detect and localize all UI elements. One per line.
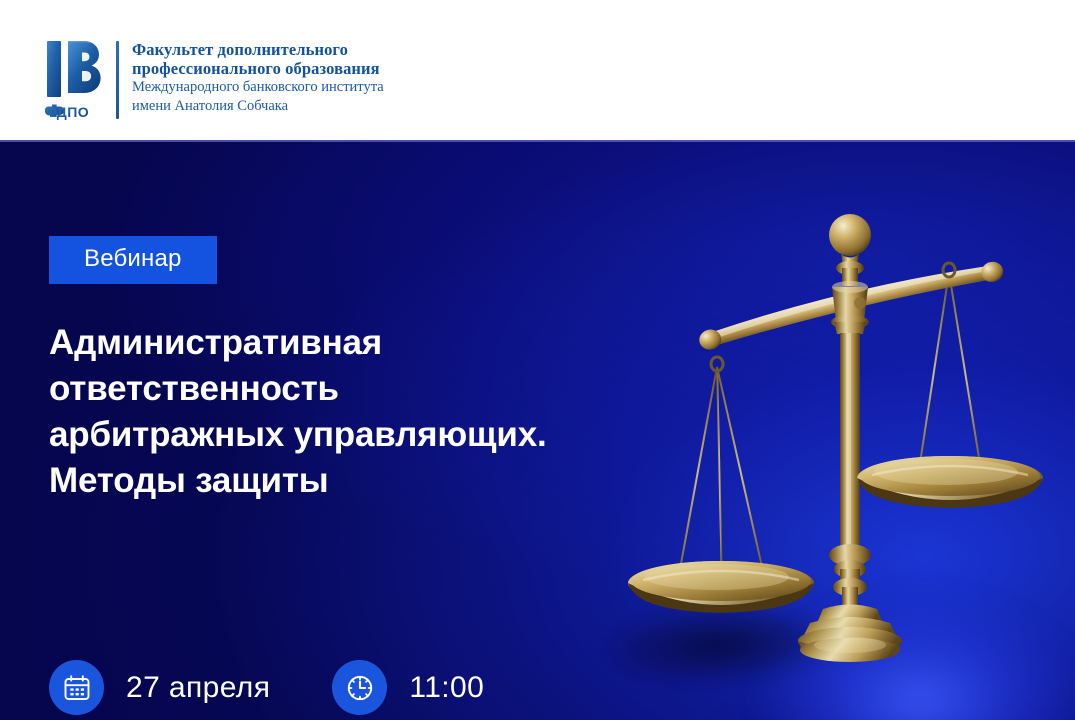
banner-content: Вебинар Административная ответственность…: [49, 236, 669, 504]
webinar-time: 11:00: [332, 660, 484, 715]
title-line-3: арбитражных управляющих.: [49, 412, 649, 458]
webinar-time-label: 11:00: [409, 671, 484, 705]
webinar-meta: 27 апреля: [49, 660, 484, 715]
header-branding[interactable]: ФДПО Факультет дополнительного профессио…: [45, 38, 384, 122]
org-line-2: профессионального образования: [132, 59, 384, 78]
webinar-poster: ФДПО Факультет дополнительного профессио…: [0, 0, 1075, 720]
org-line-4: имени Анатолия Собчака: [132, 97, 384, 116]
org-line-1: Факультет дополнительного: [132, 40, 384, 59]
title-line-4: Методы защиты: [49, 458, 649, 504]
site-header: ФДПО Факультет дополнительного профессио…: [0, 0, 1075, 140]
webinar-badge: Вебинар: [49, 236, 217, 284]
ib-fdpo-logo-icon[interactable]: ФДПО: [45, 38, 103, 122]
webinar-title: Административная ответственность арбитра…: [49, 320, 649, 504]
org-line-3: Международного банковского института: [132, 78, 384, 97]
webinar-date: 27 апреля: [49, 660, 270, 715]
scales-of-justice-illustration: [660, 195, 1060, 715]
organization-name: Факультет дополнительного профессиональн…: [132, 38, 384, 115]
title-line-2: ответственность: [49, 366, 649, 412]
calendar-icon: [49, 660, 104, 715]
svg-text:ФДПО: ФДПО: [45, 104, 89, 120]
clock-icon: [332, 660, 387, 715]
title-line-1: Административная: [49, 320, 649, 366]
logo-divider: [116, 41, 119, 119]
webinar-date-label: 27 апреля: [126, 671, 270, 705]
banner-top-edge: [0, 140, 1075, 142]
webinar-banner: Вебинар Административная ответственность…: [0, 140, 1075, 720]
